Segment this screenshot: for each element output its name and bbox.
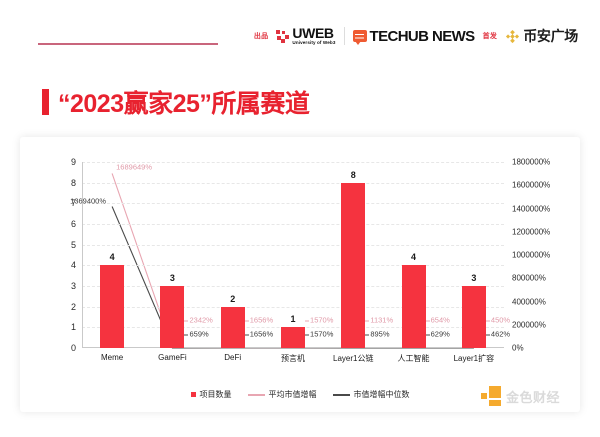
- x-axis-label: Meme: [101, 353, 123, 362]
- point-label-市值增幅中位数-人工智能: 629%: [431, 330, 450, 339]
- x-axis-label: DeFi: [224, 353, 241, 362]
- legend-swatch-line: [248, 394, 265, 396]
- bar-GameFi[interactable]: 3GameFi: [160, 286, 184, 348]
- leader-dash: [426, 334, 430, 335]
- leader-dash: [426, 320, 430, 321]
- y-axis-left-tick: 0: [71, 343, 76, 353]
- bar-value-label: 4: [411, 252, 416, 262]
- leader-dash: [184, 320, 188, 321]
- y-axis-right-tick: 1800000%: [512, 158, 550, 167]
- leader-dash: [486, 334, 490, 335]
- bar-DeFi[interactable]: 2DeFi: [221, 307, 245, 348]
- y-axis-right-tick: 1400000%: [512, 204, 550, 213]
- bar-value-label: 2: [230, 294, 235, 304]
- y-axis-left-tick: 8: [71, 178, 76, 188]
- point-label-平均市值增幅-预言机: 1570%: [310, 316, 333, 325]
- legend-item-项目数量[interactable]: 项目数量: [191, 389, 232, 400]
- techub-logo: TECHUB NEWS: [353, 28, 475, 45]
- y-axis-left-tick: 3: [71, 281, 76, 291]
- x-axis-label: 预言机: [281, 353, 305, 364]
- y-axis-left-tick: 4: [71, 260, 76, 270]
- grid-line: [82, 307, 504, 308]
- y-axis-right-tick: 0%: [512, 344, 524, 353]
- page-title: “2023赢家25”所属赛道: [42, 84, 309, 120]
- bar-Layer1公链[interactable]: 8Layer1公链: [341, 183, 365, 348]
- techub-name: TECHUB NEWS: [370, 28, 475, 45]
- bar-Layer1扩容[interactable]: 3Layer1扩容: [462, 286, 486, 348]
- legend-swatch-square: [191, 392, 196, 397]
- legend-label: 项目数量: [200, 389, 232, 400]
- grid-line: [82, 265, 504, 266]
- y-axis-right-tick: 1600000%: [512, 181, 550, 190]
- point-label-平均市值增幅-DeFi: 1656%: [250, 316, 273, 325]
- bar-人工智能[interactable]: 4人工智能: [402, 265, 426, 348]
- leader-dash: [245, 320, 249, 321]
- bar-value-label: 4: [110, 252, 115, 262]
- grid-line: [82, 245, 504, 246]
- y-axis-left-line: [82, 162, 83, 348]
- legend-label: 市值增幅中位数: [354, 389, 410, 400]
- leader-dash: [305, 334, 309, 335]
- leader-dash: [365, 320, 369, 321]
- point-label-平均市值增幅-Meme: 1689649%: [116, 163, 152, 172]
- x-axis-label: Layer1公链: [333, 353, 373, 364]
- bar-预言机[interactable]: 1预言机: [281, 327, 305, 348]
- point-label-平均市值增幅-GameFi: 2342%: [189, 316, 212, 325]
- x-axis-label: GameFi: [158, 353, 186, 362]
- grid-line: [82, 183, 504, 184]
- bar-value-label: 1: [290, 314, 295, 324]
- bar-value-label: 3: [170, 273, 175, 283]
- point-label-市值增幅中位数-GameFi: 659%: [189, 330, 208, 339]
- techub-bubble-icon: [353, 30, 367, 42]
- y-axis-right-tick: 200000%: [512, 320, 546, 329]
- y-axis-left-tick: 6: [71, 219, 76, 229]
- watermark: 金色财经: [481, 386, 560, 406]
- uweb-name: UWEB: [292, 26, 335, 40]
- point-label-市值增幅中位数-DeFi: 1656%: [250, 330, 273, 339]
- y-axis-right-tick: 1200000%: [512, 227, 550, 236]
- leader-dash: [365, 334, 369, 335]
- chart-plot-area: 01234567890%200000%400000%800000%1000000…: [82, 162, 504, 348]
- uweb-text-block: UWEB University of Web3: [292, 26, 335, 46]
- point-label-市值增幅中位数-预言机: 1570%: [310, 330, 333, 339]
- point-label-平均市值增幅-Layer1公链: 1131%: [370, 316, 393, 325]
- uweb-logo: UWEB University of Web3: [276, 26, 335, 46]
- bar-Meme[interactable]: 4Meme: [100, 265, 124, 348]
- leader-dash: [305, 320, 309, 321]
- logo-divider: [344, 27, 345, 45]
- point-label-市值增幅中位数-Meme: 1369400%: [70, 197, 106, 206]
- bar-value-label: 8: [351, 170, 356, 180]
- leader-dash: [184, 334, 188, 335]
- binance-logo: 币安广场: [505, 26, 578, 46]
- leader-dash: [245, 334, 249, 335]
- uweb-tagline: University of Web3: [292, 41, 335, 46]
- grid-line: [82, 224, 504, 225]
- point-label-市值增幅中位数-Layer1公链: 895%: [370, 330, 389, 339]
- first-release-label: 首发: [483, 31, 498, 41]
- y-axis-left-tick: 1: [71, 322, 76, 332]
- legend-swatch-line: [333, 394, 350, 396]
- point-label-平均市值增幅-Layer1扩容: 450%: [491, 316, 510, 325]
- y-axis-left-tick: 9: [71, 157, 76, 167]
- title-text: “2023赢家25”所属赛道: [58, 84, 309, 120]
- binance-diamond-icon: [505, 29, 520, 44]
- grid-line: [82, 203, 504, 204]
- grid-line: [82, 286, 504, 287]
- header-rule: [38, 43, 218, 45]
- produced-by-label: 出品: [254, 31, 269, 41]
- point-label-市值增幅中位数-Layer1扩容: 462%: [491, 330, 510, 339]
- y-axis-right-tick: 400000%: [512, 297, 546, 306]
- legend-label: 平均市值增幅: [269, 389, 317, 400]
- bar-value-label: 3: [471, 273, 476, 283]
- jinse-logo-icon: [481, 386, 501, 406]
- y-axis-left-tick: 5: [71, 240, 76, 250]
- binance-name: 币安广场: [523, 26, 578, 46]
- y-axis-right-tick: 800000%: [512, 274, 546, 283]
- x-axis-label: 人工智能: [398, 353, 430, 364]
- y-axis-right-tick: 1000000%: [512, 251, 550, 260]
- x-axis-label: Layer1扩容: [454, 353, 494, 364]
- uweb-logo-icon: [276, 30, 289, 43]
- title-accent-bar: [42, 89, 49, 115]
- leader-dash: [486, 320, 490, 321]
- legend-item-市值增幅中位数[interactable]: 市值增幅中位数: [333, 389, 410, 400]
- point-label-平均市值增幅-人工智能: 654%: [431, 316, 450, 325]
- page-header: 出品 UWEB University of Web3 TECHUB NEWS 首…: [0, 0, 600, 72]
- header-logo-group: 出品 UWEB University of Web3 TECHUB NEWS 首…: [254, 26, 578, 46]
- chart-panel: 01234567890%200000%400000%800000%1000000…: [20, 137, 580, 412]
- legend-item-平均市值增幅[interactable]: 平均市值增幅: [248, 389, 317, 400]
- y-axis-left-tick: 2: [71, 302, 76, 312]
- watermark-text: 金色财经: [506, 387, 560, 406]
